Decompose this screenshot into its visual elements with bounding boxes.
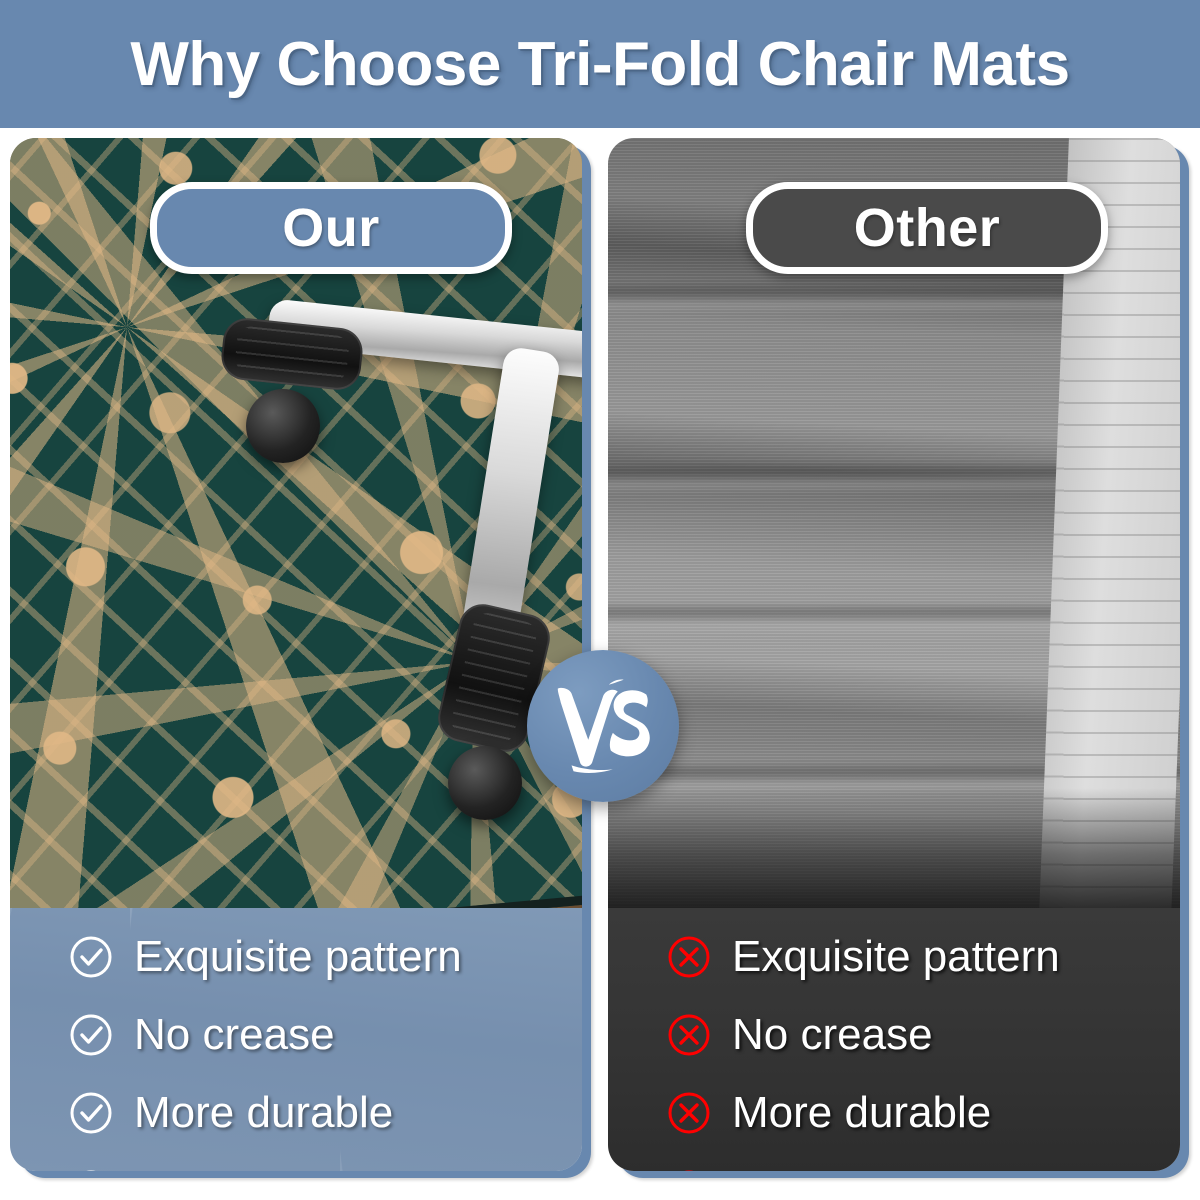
feature-label: More durable <box>134 1088 393 1138</box>
feature-item: For all floors <box>666 1158 1180 1171</box>
chair-caster-upper <box>246 389 320 463</box>
comparison-stage: Our Exquisite pattern No crease More dur <box>0 133 1200 1200</box>
page-header: Why Choose Tri-Fold Chair Mats <box>0 0 1200 128</box>
feature-item: Exquisite pattern <box>68 924 582 990</box>
feature-label: No crease <box>732 1010 933 1060</box>
x-circle-icon <box>666 1090 712 1136</box>
badge-other: Other <box>746 182 1108 274</box>
versus-badge <box>527 650 679 802</box>
vs-brushstroke-icon <box>544 667 662 785</box>
comparison-panel-other: Other Exquisite pattern No crease More d <box>608 138 1180 1171</box>
mat-shadow-edge <box>608 788 1180 908</box>
x-circle-icon <box>666 1168 712 1171</box>
badge-other-label: Other <box>854 197 1001 259</box>
check-circle-icon <box>68 1012 114 1058</box>
feature-item: No crease <box>68 1002 582 1068</box>
feature-item: No crease <box>666 1002 1180 1068</box>
badge-our: Our <box>150 182 512 274</box>
check-circle-icon <box>68 1090 114 1136</box>
feature-label: Exquisite pattern <box>732 932 1060 982</box>
other-feature-list: Exquisite pattern No crease More durable… <box>608 908 1180 1171</box>
badge-our-label: Our <box>282 197 380 259</box>
x-circle-icon <box>666 934 712 980</box>
feature-label: Exquisite pattern <box>134 932 462 982</box>
comparison-panel-our: Our Exquisite pattern No crease More dur <box>10 138 582 1171</box>
feature-item: More durable <box>666 1080 1180 1146</box>
feature-item: More durable <box>68 1080 582 1146</box>
check-circle-icon <box>68 934 114 980</box>
feature-label: For all floors <box>732 1166 974 1171</box>
feature-label: No crease <box>134 1010 335 1060</box>
our-feature-list: Exquisite pattern No crease More durable… <box>10 908 582 1171</box>
page-title: Why Choose Tri-Fold Chair Mats <box>130 29 1069 100</box>
x-circle-icon <box>666 1012 712 1058</box>
feature-label: For all floors <box>134 1166 376 1171</box>
feature-item: For all floors <box>68 1158 582 1171</box>
feature-item: Exquisite pattern <box>666 924 1180 990</box>
feature-label: More durable <box>732 1088 991 1138</box>
chair-caster-lower <box>448 746 522 820</box>
check-circle-icon <box>68 1168 114 1171</box>
